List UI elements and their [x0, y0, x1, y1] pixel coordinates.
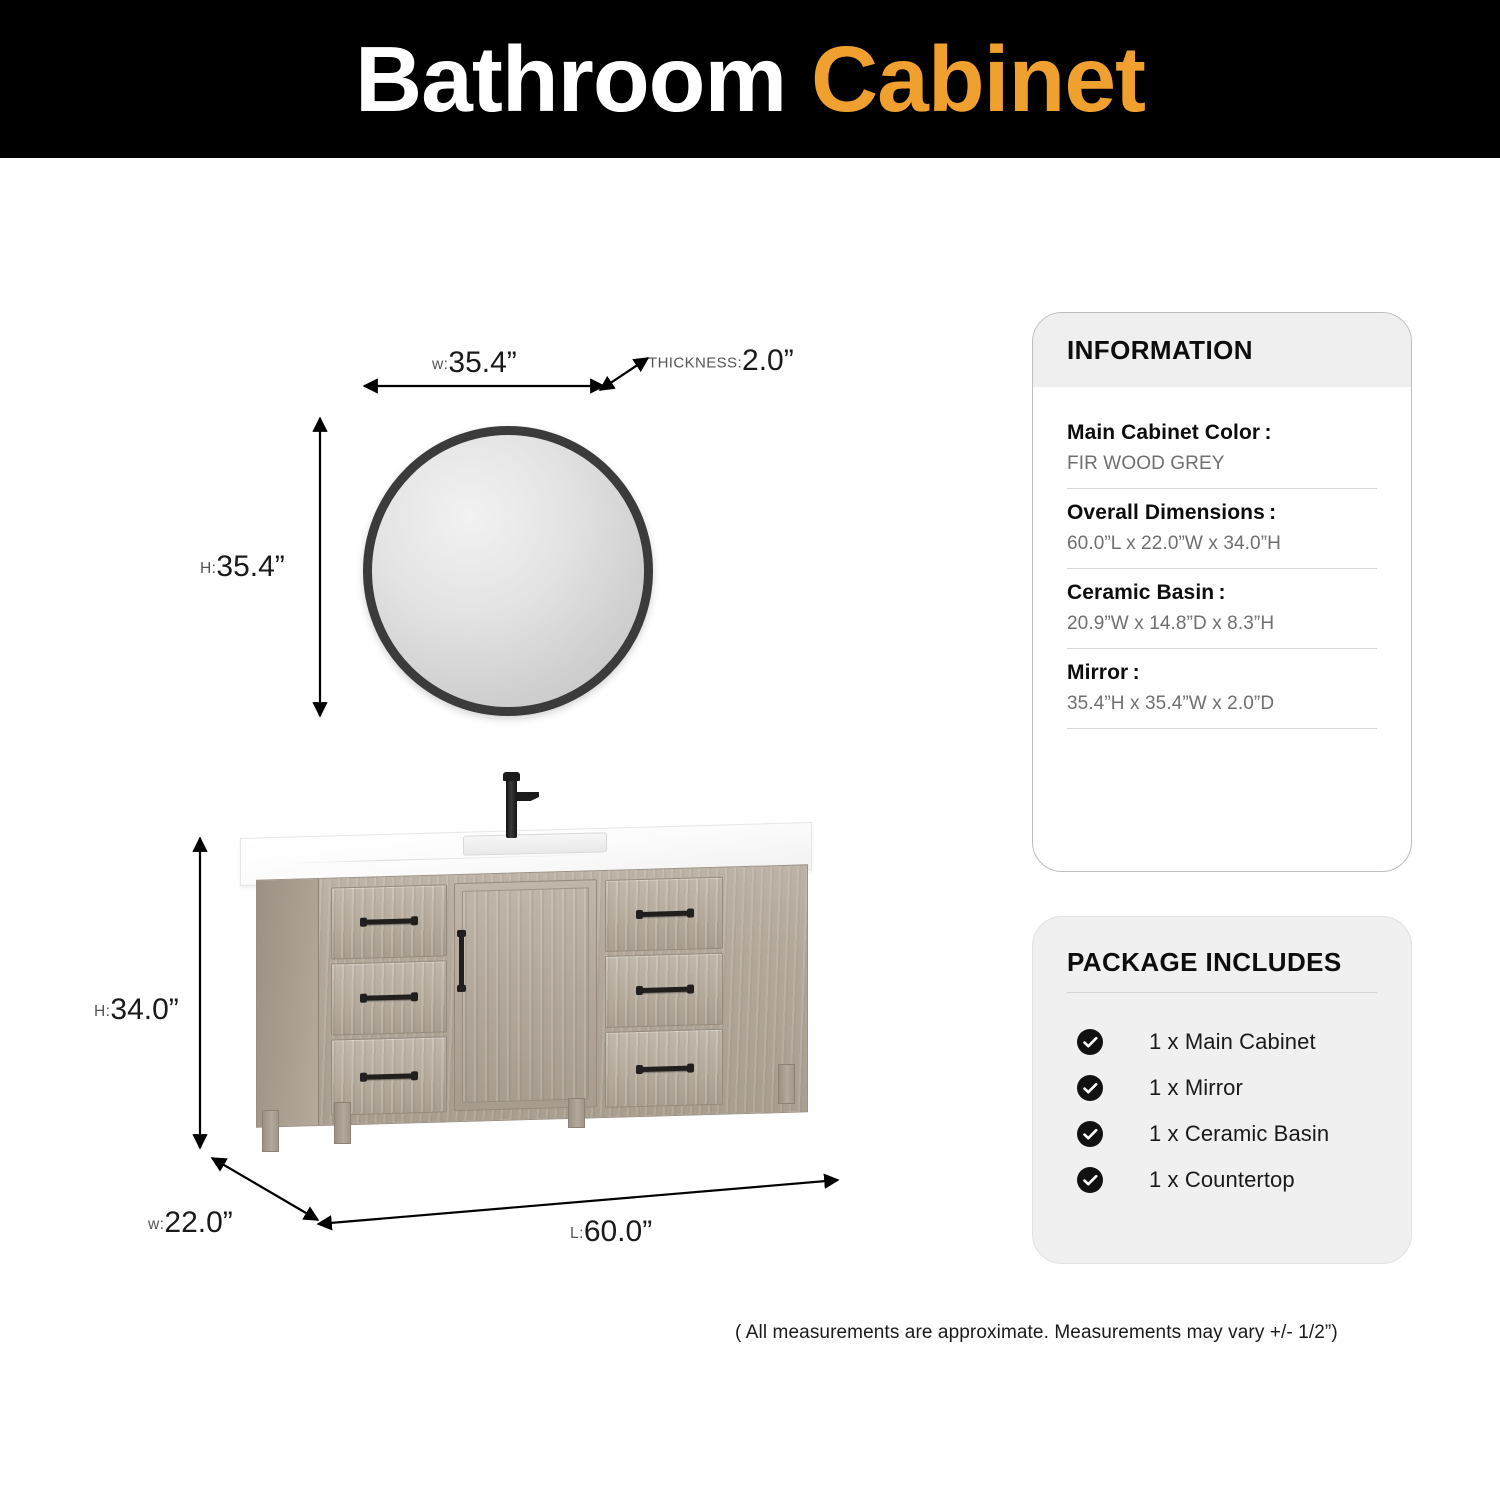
mirror-thickness-prefix: THICKNESS:: [648, 354, 742, 371]
check-circle-icon: [1077, 1121, 1103, 1147]
information-card-body: Main Cabinet Color : FIR WOOD GREY Overa…: [1033, 387, 1411, 729]
information-card: INFORMATION Main Cabinet Color : FIR WOO…: [1032, 312, 1412, 872]
cabinet-height-value: 34.0”: [110, 993, 178, 1026]
list-item: 1 x Mirror: [1077, 1065, 1411, 1111]
cabinet-side-panel: [257, 879, 319, 1127]
package-divider: [1067, 992, 1377, 993]
list-item: 1 x Ceramic Basin: [1077, 1111, 1411, 1157]
check-circle-icon: [1077, 1075, 1103, 1101]
mirror-height-prefix: H:: [200, 560, 216, 577]
cabinet-depth-label: w:22.0”: [148, 1206, 233, 1240]
mirror-width-label: w:35.4”: [432, 346, 517, 380]
info-row-cabinet-color: Main Cabinet Color : FIR WOOD GREY: [1067, 409, 1377, 489]
cabinet-leg: [334, 1102, 351, 1144]
measurement-footnote: ( All measurements are approximate. Meas…: [735, 1322, 1338, 1344]
information-card-header: INFORMATION: [1033, 313, 1411, 387]
package-heading: PACKAGE INCLUDES: [1067, 947, 1377, 978]
package-item-label: 1 x Mirror: [1149, 1075, 1243, 1101]
cabinet-leg: [568, 1098, 585, 1128]
info-label: Ceramic Basin :: [1067, 581, 1377, 605]
list-item: 1 x Main Cabinet: [1077, 1019, 1411, 1065]
list-item: 1 x Countertop: [1077, 1157, 1411, 1203]
cabinet-leg: [262, 1110, 279, 1152]
mirror-thickness-value: 2.0”: [742, 344, 794, 377]
cabinet-height-prefix: H:: [94, 1003, 110, 1020]
package-card-header: PACKAGE INCLUDES: [1033, 917, 1411, 978]
cabinet-length-label: L:60.0”: [570, 1215, 652, 1249]
info-value: FIR WOOD GREY: [1067, 453, 1377, 475]
mirror-width-value: 35.4”: [448, 346, 516, 379]
mirror-height-label: H:35.4”: [200, 550, 285, 584]
package-item-label: 1 x Ceramic Basin: [1149, 1121, 1329, 1147]
cabinet-depth-value: 22.0”: [164, 1206, 232, 1239]
info-row-overall-dimensions: Overall Dimensions : 60.0”L x 22.0”W x 3…: [1067, 489, 1377, 569]
faucet-handle-icon: [503, 772, 520, 781]
info-label: Overall Dimensions :: [1067, 501, 1377, 525]
cabinet-body: [256, 864, 808, 1127]
info-label: Mirror :: [1067, 661, 1377, 685]
package-item-label: 1 x Main Cabinet: [1149, 1029, 1316, 1055]
cabinet-length-value: 60.0”: [584, 1215, 652, 1248]
information-heading: INFORMATION: [1067, 335, 1253, 366]
page-title-part1: Bathroom: [355, 27, 786, 131]
mirror-height-value: 35.4”: [216, 550, 284, 583]
info-row-ceramic-basin: Ceramic Basin : 20.9”W x 14.8”D x 8.3”H: [1067, 569, 1377, 649]
cabinet-leg: [778, 1064, 795, 1104]
ceramic-basin: [463, 832, 607, 856]
page-title: Bathroom Cabinet: [355, 33, 1145, 126]
package-item-label: 1 x Countertop: [1149, 1167, 1295, 1193]
cabinet-door: [454, 879, 597, 1111]
header-banner: Bathroom Cabinet: [0, 0, 1500, 158]
page-title-part2: Cabinet: [811, 27, 1145, 131]
cabinet-depth-prefix: w:: [148, 1216, 164, 1233]
faucet-spout-icon: [517, 792, 539, 801]
info-label: Main Cabinet Color :: [1067, 421, 1377, 445]
cabinet-height-label: H:34.0”: [94, 993, 179, 1027]
check-circle-icon: [1077, 1167, 1103, 1193]
check-circle-icon: [1077, 1029, 1103, 1055]
package-includes-card: PACKAGE INCLUDES 1 x Main Cabinet 1 x Mi…: [1032, 916, 1412, 1264]
info-value: 35.4”H x 35.4”W x 2.0”D: [1067, 693, 1377, 715]
mirror-illustration: [363, 426, 653, 716]
vanity-illustration: [238, 768, 818, 1168]
info-value: 60.0”L x 22.0”W x 34.0”H: [1067, 533, 1377, 555]
info-value: 20.9”W x 14.8”D x 8.3”H: [1067, 613, 1377, 635]
mirror-width-prefix: w:: [432, 356, 448, 373]
info-row-mirror: Mirror : 35.4”H x 35.4”W x 2.0”D: [1067, 649, 1377, 729]
package-list: 1 x Main Cabinet 1 x Mirror 1 x Ceramic …: [1033, 1019, 1411, 1203]
mirror-thickness-label: THICKNESS:2.0”: [648, 344, 794, 378]
faucet-icon: [506, 778, 517, 838]
door-pull-icon: [459, 933, 464, 989]
cabinet-length-prefix: L:: [570, 1225, 584, 1242]
product-diagram: w:35.4” THICKNESS:2.0” H:35.4” H:34.0” w…: [0, 158, 1000, 1500]
